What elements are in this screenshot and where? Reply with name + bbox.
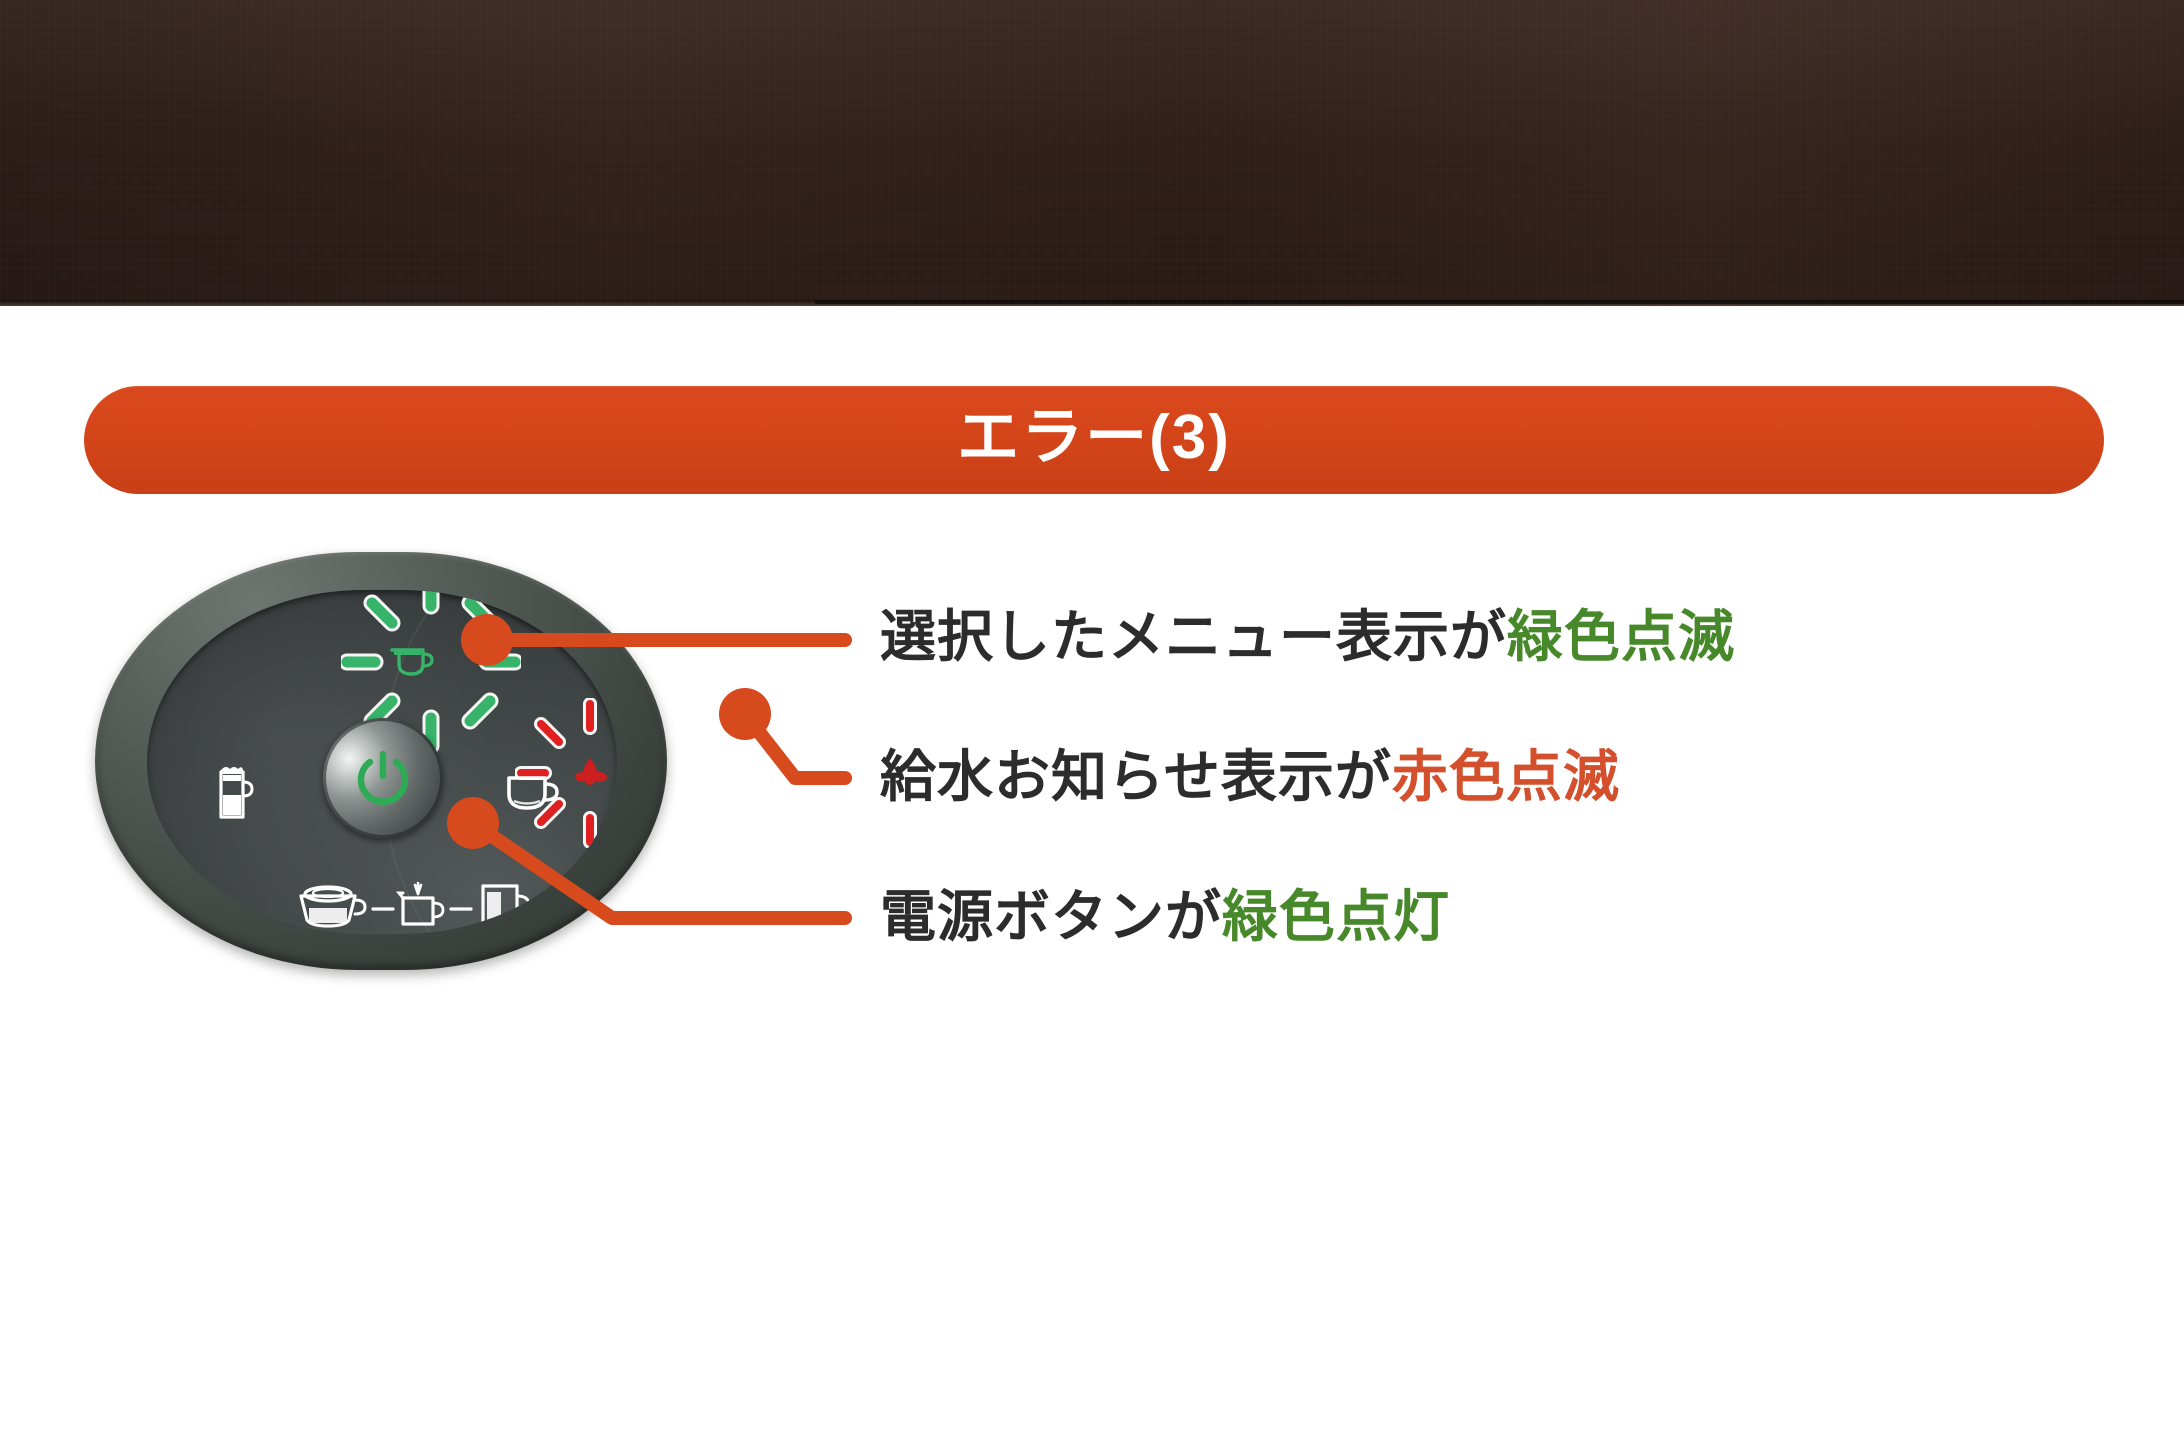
- bottom-icon-row: [293, 876, 543, 932]
- callout-menu-display-prefix: 選択したメニュー表示が: [880, 605, 1507, 668]
- coffee-cup-icon: [387, 642, 435, 682]
- callout-menu-display-highlight: 緑色点滅: [1507, 605, 1735, 668]
- callout-label-column: 選択したメニュー表示が緑色点滅 給水お知らせ表示が赤色点滅 電源ボタンが緑色点灯: [880, 530, 2180, 1030]
- callout-water-supply-highlight: 赤色点滅: [1392, 745, 1620, 808]
- callout-water-supply: 給水お知らせ表示が赤色点滅: [880, 748, 1620, 807]
- banner-title: エラー(3): [957, 407, 1231, 469]
- tall-mug-icon: [483, 886, 529, 926]
- callout-power-button-prefix: 電源ボタンが: [880, 885, 1222, 948]
- control-panel-illustration: [95, 540, 675, 980]
- callout-water-supply-prefix: 給水お知らせ表示が: [880, 745, 1392, 808]
- error-banner: エラー(3): [84, 386, 2104, 494]
- callout-menu-display: 選択したメニュー表示が緑色点滅: [880, 608, 1735, 667]
- panel-outer-shell: [95, 552, 667, 970]
- power-icon: [354, 749, 412, 807]
- panel-face: [147, 590, 617, 934]
- steam-pitcher-icon: [399, 883, 443, 924]
- leader-line-water-supply: [719, 688, 845, 778]
- band-bottom-edge-right: [815, 300, 2184, 304]
- bowl-cup-icon: [301, 887, 365, 926]
- power-button[interactable]: [323, 718, 443, 838]
- top-decorative-band: [0, 0, 2184, 306]
- espresso-cup-icon: [503, 768, 561, 816]
- error-state-diagram: 選択したメニュー表示が緑色点滅 給水お知らせ表示が赤色点滅 電源ボタンが緑色点灯: [0, 530, 2184, 1030]
- callout-power-button: 電源ボタンが緑色点灯: [880, 888, 1450, 947]
- latte-glass-icon: [213, 762, 255, 824]
- wood-grain-texture: [0, 0, 2184, 306]
- callout-power-button-highlight: 緑色点灯: [1222, 885, 1450, 948]
